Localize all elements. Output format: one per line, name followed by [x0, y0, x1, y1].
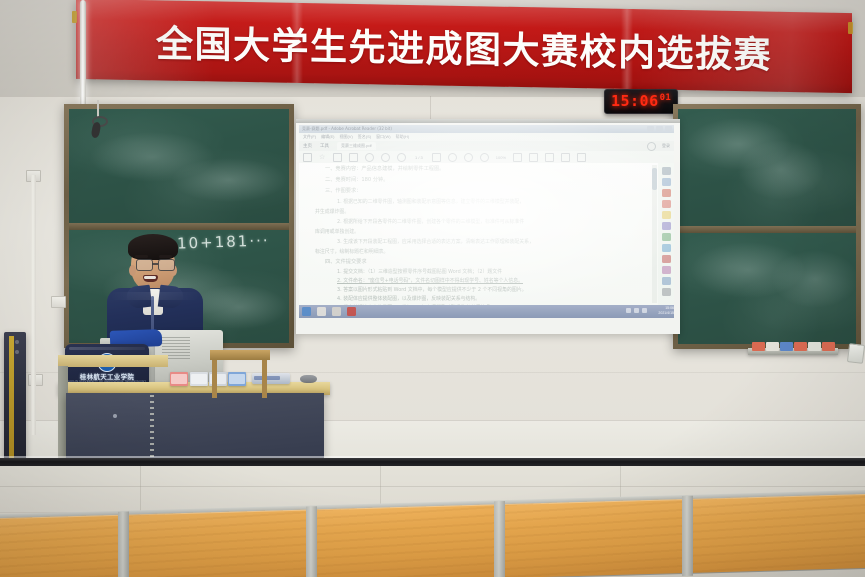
presenter-ear — [129, 265, 136, 276]
protect-icon[interactable] — [662, 255, 671, 263]
tab-home[interactable]: 主页 — [303, 143, 312, 149]
pdf-text-line: 一、竞赛内容：产品信息建模，并绘制零件工程图。 — [325, 167, 444, 172]
blackboard-right — [673, 104, 861, 349]
computer-mouse[interactable] — [300, 375, 317, 383]
chalk-box — [766, 342, 779, 351]
chalk-box — [780, 342, 793, 351]
pdf-text-line: 3. 答案以图片形式粘贴到 Word 文档中，每个模型应提供不少于 2 个不同视… — [337, 288, 527, 293]
banner-tie-right — [848, 22, 853, 34]
system-tray[interactable] — [626, 308, 647, 313]
email-icon[interactable] — [349, 153, 358, 162]
blackboard-left-divider — [69, 223, 289, 230]
projected-desktop: 竞赛-赛题.pdf - Adobe Acrobat Reader (32 bit… — [299, 125, 674, 325]
wooden-chair-back — [210, 350, 270, 360]
comment-icon[interactable] — [545, 153, 554, 162]
acrobat-tools-rail[interactable] — [658, 163, 674, 309]
chalk-box-face — [229, 374, 245, 384]
desk-wood-grain — [128, 510, 306, 577]
chalk-box-face — [191, 374, 207, 384]
acrobat-window: 竞赛-赛题.pdf - Adobe Acrobat Reader (32 bit… — [299, 125, 674, 305]
taskbar-date: 2021/4/15 — [658, 311, 674, 316]
organize-pages-icon[interactable] — [662, 233, 671, 241]
previous-page-icon[interactable] — [381, 153, 390, 162]
pdf-text-line: 3. 生成该下开段装配工程图，应采用选择合适的表达方案，清晰表达工作原理和装配关… — [337, 240, 534, 245]
sign-in-link[interactable]: 登录 — [662, 143, 670, 149]
pdf-scrollbar-thumb[interactable] — [652, 168, 657, 190]
chalk-box — [752, 342, 765, 351]
projection-screen: 竞赛-赛题.pdf - Adobe Acrobat Reader (32 bit… — [296, 119, 680, 334]
baseboard — [0, 458, 865, 466]
menu-help[interactable]: 帮助(H) — [396, 134, 410, 140]
export-pdf-icon[interactable] — [662, 178, 671, 186]
desk-wood-grain — [504, 499, 682, 577]
chalk-box — [228, 372, 246, 386]
maximize-icon[interactable] — [656, 126, 663, 131]
glasses-bridge — [152, 263, 158, 265]
search-tool-icon[interactable] — [662, 167, 671, 175]
explorer-icon[interactable] — [317, 307, 326, 316]
tray-icon[interactable] — [642, 308, 647, 313]
board-eraser — [847, 343, 865, 364]
zoom-level[interactable]: 100% — [496, 155, 506, 160]
glasses-icon — [136, 259, 153, 271]
classroom-scene: 全国大学生先进成图大赛校内选拔赛 15:06 01 10+181··· — [0, 0, 865, 577]
page-view-icon[interactable] — [513, 153, 522, 162]
highlight-icon[interactable] — [561, 153, 570, 162]
chalk-box — [170, 372, 188, 386]
zoom-in-icon[interactable] — [464, 153, 473, 162]
floor-unit-indicator — [15, 350, 19, 354]
taskbar-clock[interactable]: 15:06 2021/4/15 — [658, 306, 674, 317]
blackboard-right-panel-bottom — [678, 233, 856, 344]
chair-leg — [212, 360, 217, 398]
blackboard-right-panel-top — [678, 109, 856, 226]
floor-tile-line — [140, 466, 141, 514]
edit-pdf-icon[interactable] — [662, 200, 671, 208]
tray-icon[interactable] — [634, 308, 639, 313]
pdf-text-line: 2. 根据所给下开段各零件的二维零件图，创建各个零件的三维模型，标准件可从标准件 — [337, 220, 524, 225]
presenter-eyebrow — [159, 255, 172, 258]
floor-unit-indicator — [15, 340, 19, 344]
print-icon[interactable] — [333, 153, 342, 162]
pdf-scrollbar[interactable] — [652, 165, 657, 303]
sign-icon[interactable] — [577, 153, 586, 162]
wall-outlet — [51, 296, 66, 308]
presenter-shoulder-highlight — [111, 292, 199, 300]
menu-view[interactable]: 视图(V) — [339, 134, 352, 140]
desk-divider-rail — [494, 501, 505, 577]
chalk-box — [808, 342, 821, 351]
desk-wood-grain — [316, 504, 494, 577]
desk-wood-grain — [0, 515, 118, 577]
chalk-box — [190, 372, 208, 386]
student-desk — [692, 494, 865, 573]
banner-title: 全国大学生先进成图大赛校内选拔赛 — [76, 0, 852, 93]
menu-edit[interactable]: 编辑(E) — [321, 134, 334, 140]
menu-sign[interactable]: 签名(S) — [358, 134, 371, 140]
window-controls[interactable] — [647, 126, 672, 131]
fit-page-icon[interactable] — [480, 153, 489, 162]
pdf-text-line: 并生成爆炸图。 — [315, 210, 349, 215]
pdf-text-line: 四、文件提交要求 — [325, 260, 367, 265]
menu-window[interactable]: 窗口(W) — [376, 134, 390, 140]
desk-wood-grain — [692, 494, 865, 573]
blackboard-right-surface — [678, 109, 856, 344]
pdf-text-line: 标注尺寸，绘制标题栏和明细表。 — [315, 250, 388, 255]
create-pdf-icon[interactable] — [662, 189, 671, 197]
banner-tie-left — [72, 11, 77, 23]
acrobat-menubar[interactable]: 文件(F) 编辑(E) 视图(V) 签名(S) 窗口(W) 帮助(H) — [299, 133, 674, 141]
wall-cable-conduit — [31, 175, 36, 435]
select-tool-icon[interactable] — [432, 153, 441, 162]
tabbar-right: 登录 — [647, 142, 670, 151]
pdf-text-line: 库调用或单独创建。 — [315, 230, 359, 235]
student-desk — [504, 499, 682, 577]
acrobat-titlebar: 竞赛-赛题.pdf - Adobe Acrobat Reader (32 bit… — [299, 125, 674, 133]
acrobat-taskbar-icon[interactable] — [347, 307, 356, 316]
digital-wall-clock: 15:06 01 — [604, 89, 678, 114]
presenter-teeth — [144, 276, 156, 279]
desk-divider-rail — [118, 512, 129, 577]
search-icon[interactable] — [365, 153, 374, 162]
student-desk — [0, 515, 118, 577]
presenter-mouth — [143, 275, 158, 282]
screen-top-bar — [296, 119, 680, 123]
close-icon[interactable] — [665, 126, 672, 131]
pdf-text-line: 1. 根据已知的二维零件图，轴测图和装配示意图等信息，建立零件的三维模型并装配， — [337, 200, 524, 205]
chair-leg — [262, 360, 267, 398]
podium-upper-shelf — [58, 355, 168, 367]
student-desk — [128, 510, 306, 577]
save-icon[interactable] — [303, 153, 312, 162]
rotate-icon[interactable] — [529, 153, 538, 162]
tray-icon[interactable] — [626, 308, 631, 313]
pdf-text-line: 4. 装配体应提供整体装配图，以及爆炸图，反映装配关系与结构。 — [337, 297, 480, 302]
minimize-icon[interactable] — [647, 126, 654, 131]
folder-icon[interactable] — [332, 307, 341, 316]
fill-sign-icon[interactable] — [662, 244, 671, 252]
eraser-label — [254, 376, 280, 380]
presenter-eyebrow — [135, 255, 148, 258]
pdf-text-line: 1. 提交文档：（1）三维造型按照零件序号截图贴图 Word 文档；（2）题文件 — [337, 270, 502, 275]
page-indicator: 1 / 3 — [415, 155, 423, 160]
start-icon[interactable] — [302, 307, 311, 316]
comment-tool-icon[interactable] — [662, 211, 671, 219]
windows-taskbar[interactable]: 15:06 2021/4/15 — [299, 305, 674, 318]
floor-tile-line — [0, 486, 865, 487]
floor-unit-light-strip — [9, 336, 14, 476]
next-page-icon[interactable] — [397, 153, 406, 162]
glasses-icon — [158, 259, 175, 271]
student-desk — [316, 504, 494, 577]
redact-icon[interactable] — [662, 266, 671, 274]
desk-divider-rail — [682, 496, 693, 576]
star-icon[interactable]: ☆ — [319, 154, 326, 161]
chalk-box-face — [171, 374, 187, 384]
tab-document[interactable]: 竞赛三维成图.pdf — [337, 142, 376, 150]
chalk-box — [822, 342, 835, 351]
pdf-text-line: 三、作图要求： — [325, 189, 361, 194]
bag-zipper — [69, 347, 145, 350]
acrobat-tabbar[interactable]: 主页 工具 竞赛三维成图.pdf 登录 — [299, 141, 674, 151]
board-eraser — [252, 373, 290, 384]
chalk-box — [794, 342, 807, 351]
pdf-text-line: 二、竞赛时间：180 分钟。 — [325, 178, 388, 183]
compress-pdf-icon[interactable] — [662, 277, 671, 285]
clock-time: 15:06 — [611, 94, 659, 109]
combine-files-icon[interactable] — [662, 222, 671, 230]
pdf-document-page: 一、竞赛内容：产品信息建模，并绘制零件工程图。 二、竞赛时间：180 分钟。 三… — [299, 163, 674, 305]
podium-lock[interactable] — [113, 414, 117, 418]
competition-banner: 全国大学生先进成图大赛校内选拔赛 — [76, 0, 852, 93]
desk-divider-rail — [306, 506, 317, 577]
blackboard-right-divider — [678, 226, 856, 233]
help-icon[interactable] — [647, 142, 656, 151]
wall-seam — [0, 96, 865, 97]
pdf-text-line: 2. 文件命名："座位号+电话号码"，文件名切图样中不得出现学号、姓名等个人信息… — [337, 279, 523, 284]
zoom-out-icon[interactable] — [448, 153, 457, 162]
clock-seconds: 01 — [660, 93, 671, 103]
more-tools-icon[interactable] — [662, 288, 671, 296]
tab-tools[interactable]: 工具 — [320, 143, 329, 149]
acrobat-window-title: 竞赛-赛题.pdf - Adobe Acrobat Reader (32 bit… — [302, 126, 392, 132]
menu-file[interactable]: 文件(F) — [303, 134, 316, 140]
